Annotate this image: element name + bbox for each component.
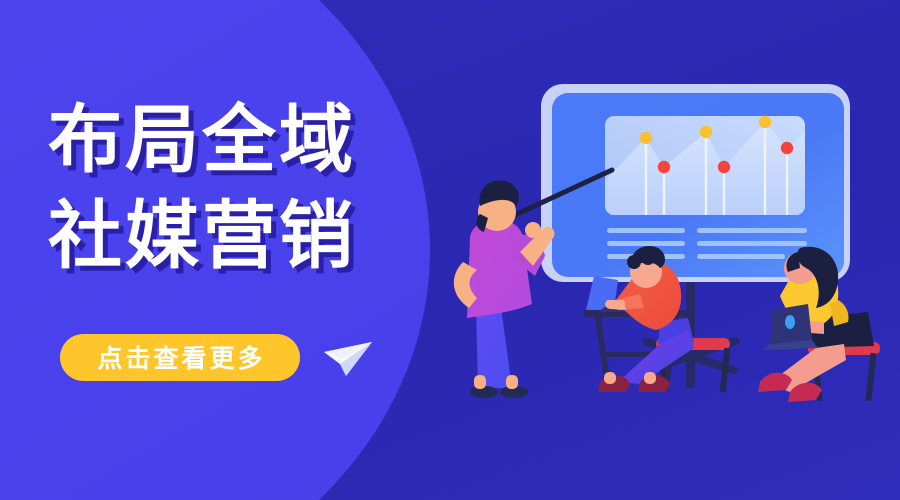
headline: 布局全域 社媒营销	[48, 92, 356, 284]
headline-line-2: 社媒营销	[48, 188, 356, 284]
cta-row: 点击查看更多	[60, 334, 376, 381]
person-presenter	[454, 180, 555, 398]
promo-banner: 布局全域 社媒营销 点击查看更多	[0, 0, 900, 500]
headline-line-1: 布局全域	[48, 92, 356, 188]
paper-plane-icon	[320, 336, 376, 380]
view-more-button[interactable]: 点击查看更多	[60, 334, 300, 381]
